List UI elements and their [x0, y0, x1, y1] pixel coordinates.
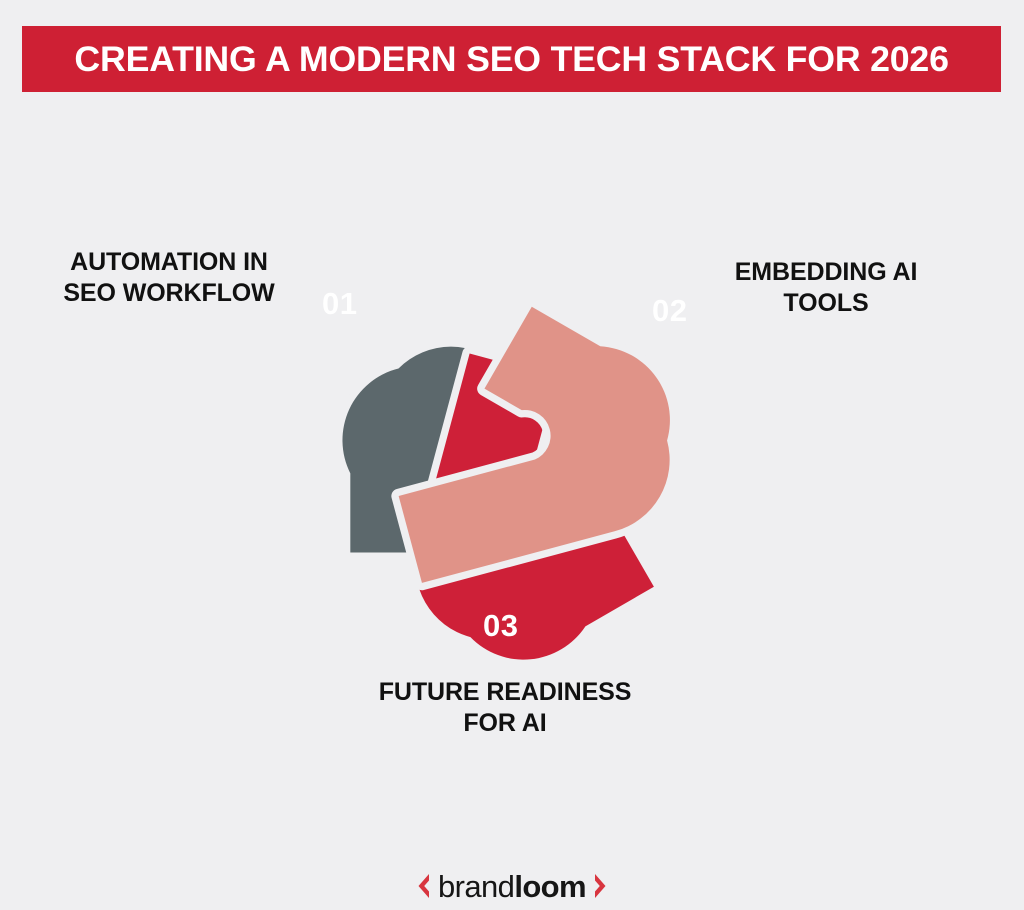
- step-label-03-line2: FOR AI: [325, 708, 685, 739]
- brand-wordmark-bold: loom: [514, 869, 586, 904]
- brand-wordmark: brandloom: [438, 871, 586, 902]
- step-label-01-line1: AUTOMATION IN: [44, 247, 294, 278]
- step-label-02-line2: TOOLS: [706, 288, 946, 319]
- step-label-01-line2: SEO WORKFLOW: [44, 278, 294, 309]
- step-label-02-line1: EMBEDDING AI: [706, 257, 946, 288]
- brand-wordmark-light: brand: [438, 869, 514, 904]
- step-label-03-line1: FUTURE READINESS: [325, 677, 685, 708]
- step-label-02: EMBEDDING AI TOOLS: [706, 257, 946, 318]
- step-label-01: AUTOMATION IN SEO WORKFLOW: [44, 247, 294, 308]
- infographic-diagram: 01 02 03 AUTOMATION IN SEO WORKFLOW EMBE…: [0, 92, 1024, 792]
- chevron-left-icon: [416, 873, 431, 899]
- trefoil-graphic: [262, 232, 762, 672]
- page-title: CREATING A MODERN SEO TECH STACK FOR 202…: [74, 42, 948, 77]
- title-banner: CREATING A MODERN SEO TECH STACK FOR 202…: [22, 26, 1001, 92]
- brand-logo: brandloom: [0, 862, 1024, 910]
- step-label-03: FUTURE READINESS FOR AI: [325, 677, 685, 738]
- chevron-right-icon: [593, 873, 608, 899]
